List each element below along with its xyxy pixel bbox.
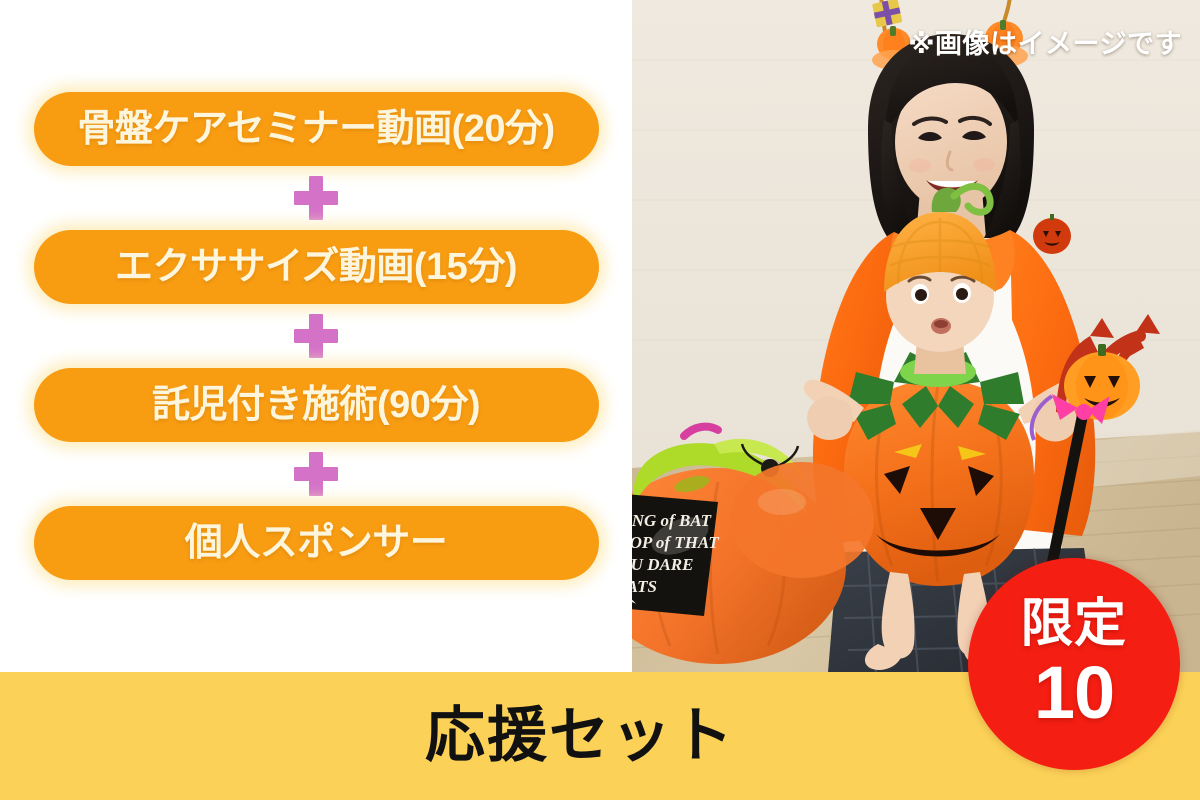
offer-item-4: 個人スポンサー [34, 506, 599, 580]
offer-panel: 骨盤ケアセミナー動画(20分) エクササイズ動画(15分) 託児付き施術(90分… [0, 0, 632, 672]
offer-item-label: 骨盤ケアセミナー動画(20分) [77, 110, 554, 148]
plus-separator-icon [294, 314, 338, 358]
banner-title: 応援セット [425, 706, 735, 766]
limited-quantity-badge: 限定 10 [968, 558, 1180, 770]
image-disclaimer-text: ※画像はイメージです [908, 22, 1182, 61]
offer-pill-stack: 骨盤ケアセミナー動画(20分) エクササイズ動画(15分) 託児付き施術(90分… [0, 0, 632, 672]
badge-count: 10 [1034, 656, 1114, 730]
plus-separator-icon [294, 452, 338, 496]
offer-item-3: 託児付き施術(90分) [34, 368, 599, 442]
offer-item-1: 骨盤ケアセミナー動画(20分) [34, 92, 599, 166]
balloon-text-line-3: YOU DARE [632, 555, 693, 574]
offer-item-label: 託児付き施術(90分) [152, 386, 480, 424]
balloon-text-line-4: REATS [632, 577, 657, 596]
offer-item-label: 個人スポンサー [185, 524, 448, 562]
plus-separator-icon [294, 176, 338, 220]
badge-limited-label: 限定 [1021, 598, 1127, 650]
promo-banner-canvas: 骨盤ケアセミナー動画(20分) エクササイズ動画(15分) 託児付き施術(90分… [0, 0, 1200, 800]
offer-item-2: エクササイズ動画(15分) [34, 230, 599, 304]
offer-item-label: エクササイズ動画(15分) [115, 248, 517, 286]
